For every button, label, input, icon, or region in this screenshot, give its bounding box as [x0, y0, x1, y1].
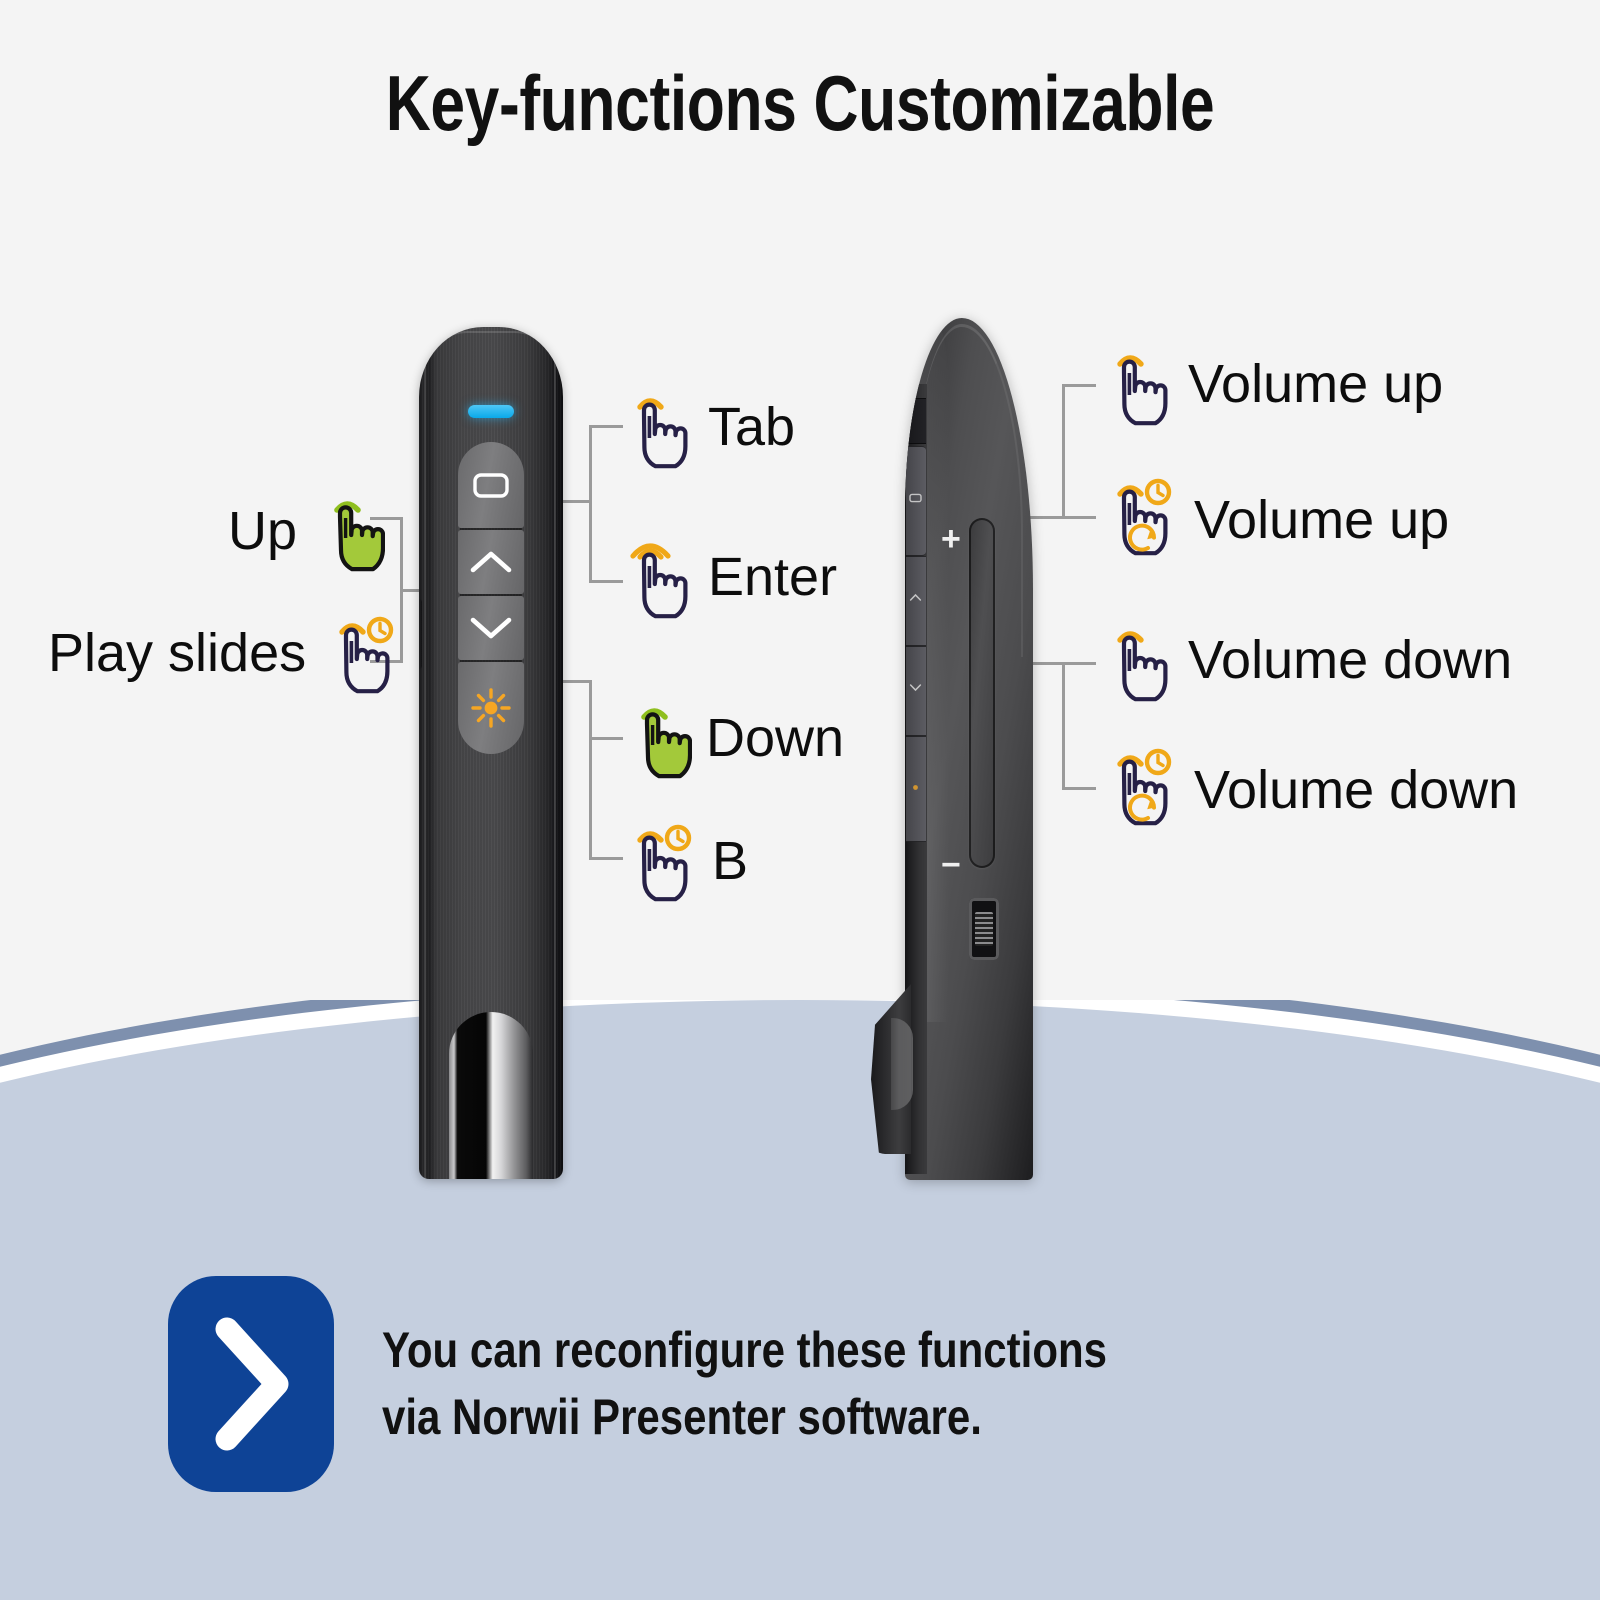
callout-play-slides-label: Play slides	[48, 626, 306, 680]
callout-volume-down-tap: Volume down	[1098, 618, 1512, 702]
page-title: Key-functions Customizable	[160, 58, 1440, 149]
callout-volume-down-hold-label: Volume down	[1194, 763, 1518, 817]
laser-button[interactable]	[458, 662, 524, 754]
chevron-down-icon	[909, 683, 922, 692]
callout-volume-up-tap-label: Volume up	[1188, 357, 1443, 411]
lead-side-r1-top-stub	[1062, 384, 1096, 387]
callout-volume-up-hold: Volume up	[1098, 472, 1449, 568]
chevron-right-badge[interactable]	[168, 1276, 334, 1492]
single-tap-hand-icon	[1098, 618, 1174, 702]
lead-side-r2-bottom-stub	[1062, 787, 1096, 790]
press-hold-repeat-hand-icon	[1098, 742, 1180, 838]
body-top-rim	[425, 331, 557, 391]
presenter-remote-front-view	[419, 327, 563, 1179]
rounded-rectangle-screen-icon	[909, 493, 922, 503]
software-note-line-1: You can reconfigure these functions	[382, 1317, 1107, 1385]
callout-enter-label: Enter	[708, 550, 837, 604]
software-note-banner: You can reconfigure these functions via …	[168, 1276, 1245, 1492]
button-seam	[460, 660, 522, 662]
micro-usb-port	[969, 898, 999, 960]
lead-front-r2-vertical	[589, 680, 592, 860]
edge-page-up-button[interactable]	[906, 556, 926, 646]
side-body-shell: + −	[905, 318, 1033, 1180]
callout-volume-up-tap: Volume up	[1098, 342, 1443, 426]
glossy-bottom-insert	[449, 1012, 533, 1179]
presenter-remote-side-view: + −	[905, 318, 1033, 1180]
callout-up: Up	[228, 490, 385, 572]
page-down-button[interactable]	[458, 596, 524, 660]
chevron-up-icon	[469, 549, 513, 575]
button-seam	[460, 594, 522, 596]
sun-brightness-icon	[471, 688, 511, 728]
body-right-rim	[554, 333, 556, 1179]
double-tap-hand-icon	[618, 535, 694, 619]
lead-side-r1-bottom-stub	[1062, 516, 1096, 519]
chevron-down-icon	[469, 615, 513, 641]
body-left-rim	[424, 333, 426, 1179]
lead-side-r2-top-stub	[1062, 662, 1096, 665]
rocker-minus-label: −	[941, 848, 961, 882]
callout-b: B	[618, 818, 748, 904]
callout-tab-label: Tab	[708, 400, 795, 454]
single-tap-green-hand-icon	[618, 697, 692, 779]
lead-side-r2-vertical	[1062, 662, 1065, 790]
lead-front-r1-vertical	[589, 425, 592, 583]
blank-screen-button[interactable]	[458, 442, 524, 528]
volume-rocker-bar[interactable]	[969, 518, 995, 868]
single-tap-hand-icon	[1098, 342, 1174, 426]
edge-laser-button[interactable]	[906, 736, 926, 842]
edge-blank-screen-button[interactable]	[906, 446, 926, 556]
button-seam	[460, 528, 522, 530]
edge-page-down-button[interactable]	[906, 646, 926, 736]
press-hold-repeat-hand-icon	[1098, 472, 1180, 568]
single-tap-green-hand-icon	[311, 490, 385, 572]
pocket-clip-highlight	[891, 1018, 913, 1110]
front-button-stack	[458, 442, 524, 772]
callout-b-label: B	[712, 834, 748, 888]
software-note-text: You can reconfigure these functions via …	[382, 1317, 1245, 1452]
usb-contacts	[975, 912, 993, 946]
callout-down-label: Down	[706, 711, 844, 765]
rocker-plus-label: +	[941, 522, 961, 556]
callout-up-label: Up	[228, 504, 297, 558]
long-press-hand-clock-icon	[618, 818, 698, 904]
callout-volume-down-hold: Volume down	[1098, 742, 1518, 838]
side-power-switch[interactable]	[419, 599, 422, 669]
callout-tab: Tab	[618, 385, 795, 469]
chevron-up-icon	[909, 593, 922, 602]
single-tap-hand-icon	[618, 385, 694, 469]
infographic-canvas: Key-functions Customizable	[0, 0, 1600, 1600]
callout-volume-up-hold-label: Volume up	[1194, 493, 1449, 547]
lead-side-r1-vertical	[1062, 384, 1065, 519]
chevron-right-icon	[205, 1317, 297, 1451]
page-up-button[interactable]	[458, 530, 524, 594]
callout-down: Down	[618, 697, 844, 779]
long-press-hand-clock-icon	[320, 610, 400, 696]
sun-brightness-icon	[909, 781, 922, 794]
software-note-line-2: via Norwii Presenter software.	[382, 1384, 1107, 1452]
callout-volume-down-tap-label: Volume down	[1188, 633, 1512, 687]
status-led-indicator	[468, 405, 514, 418]
rounded-rectangle-screen-icon	[472, 471, 510, 499]
callout-enter: Enter	[618, 535, 837, 619]
callout-play-slides: Play slides	[48, 610, 400, 696]
edge-led-slot	[906, 398, 926, 444]
